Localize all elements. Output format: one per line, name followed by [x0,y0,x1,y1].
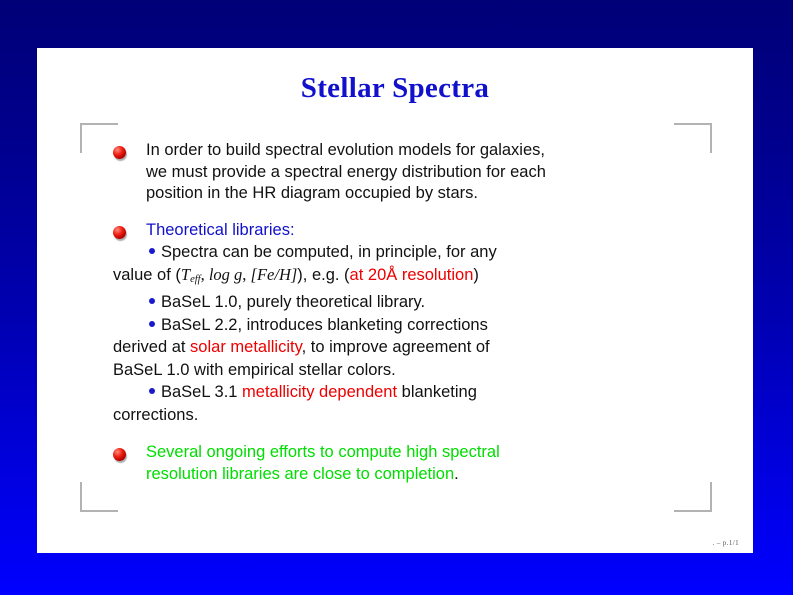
sub-bullet-basel-3-1: BaSeL 3.1 metallicity dependent blanketi… [113,381,723,404]
page-title: Stellar Spectra [37,72,753,105]
bullet-intro-line-1: In order to build spectral evolution mod… [146,140,723,162]
ongoing-efforts-text: Several ongoing efforts to compute high … [146,442,723,485]
math-comma-1: , [201,265,209,284]
resolution-note: at 20Å resolution [350,266,474,284]
sub-bullet-spectra-computed-line-2: value of (Teff, log g, [Fe/H]), e.g. (at… [113,264,723,292]
bullet-intro-line-2: we must provide a spectral energy distri… [146,162,723,184]
blue-dot-bullet-icon [149,298,155,304]
ongoing-efforts-line-1: Several ongoing efforts to compute high … [146,442,723,464]
solar-metallicity-note: solar metallicity [190,338,302,356]
math-teff-subscript: eff [190,274,201,285]
basel-3-1-text: BaSeL 3.1 [161,383,242,401]
math-expression: Teff, log g, [Fe/H] [181,265,297,284]
bullet-item-intro: In order to build spectral evolution mod… [113,140,723,205]
sub-bullet-basel-1-0-text: BaSeL 1.0, purely theoretical library. [161,293,425,311]
ongoing-efforts-line-2-text: resolution libraries are close to comple… [146,465,454,483]
theoretical-libraries-heading: Theoretical libraries: [146,220,723,242]
math-comma-2: , [242,265,250,284]
ongoing-efforts-line-2: resolution libraries are close to comple… [146,464,723,486]
math-log-g: log g [209,265,242,284]
blanketing-text: blanketing [397,383,477,401]
value-of-text: value of ( [113,266,181,284]
sub-bullet-basel-2-2: BaSeL 2.2, introduces blanketing correct… [113,314,723,337]
theoretical-libraries-sublist: Spectra can be computed, in principle, f… [113,241,723,426]
sub-bullet-basel-2-2-line-3: BaSeL 1.0 with empirical stellar colors. [113,359,723,382]
bullet-item-theoretical-libraries: Theoretical libraries: Spectra can be co… [113,220,723,427]
red-ball-bullet-icon [113,226,126,239]
sub-bullet-spectra-computed-line-1: Spectra can be computed, in principle, f… [161,243,497,261]
slide-root: Stellar Spectra In order to build spectr… [0,0,793,595]
blue-dot-bullet-icon [149,388,155,394]
red-ball-bullet-icon [113,448,126,461]
blue-dot-bullet-icon [149,321,155,327]
derived-at-text: derived at [113,338,190,356]
page-number-footer: . – p.1/1 [712,539,739,547]
bullet-item-ongoing-efforts: Several ongoing efforts to compute high … [113,442,723,485]
theoretical-libraries-heading-wrap: Theoretical libraries: [146,220,723,242]
bullet-intro-line-3: position in the HR diagram occupied by s… [146,183,723,205]
improve-agreement-text: , to improve agreement of [302,338,490,356]
sub-bullet-spectra-computed: Spectra can be computed, in principle, f… [113,241,723,264]
sub-bullet-basel-3-1-line-2: corrections. [113,404,723,427]
red-ball-bullet-icon [113,146,126,159]
sub-bullet-basel-2-2-line-2: derived at solar metallicity, to improve… [113,336,723,359]
slide-content: In order to build spectral evolution mod… [113,140,723,500]
bullet-intro-text: In order to build spectral evolution mod… [146,140,723,205]
math-fe-h: [Fe/H] [251,265,298,284]
sub-bullet-basel-1-0: BaSeL 1.0, purely theoretical library. [113,291,723,314]
slide-panel: Stellar Spectra In order to build spectr… [37,48,753,553]
eg-text: ), e.g. ( [297,266,349,284]
close-paren: ) [473,266,479,284]
ongoing-efforts-period: . [454,465,459,483]
blue-dot-bullet-icon [149,248,155,254]
sub-bullet-basel-2-2-line-1: BaSeL 2.2, introduces blanketing correct… [161,316,488,334]
metallicity-dependent-note: metallicity dependent [242,383,397,401]
math-teff: T [181,265,190,284]
